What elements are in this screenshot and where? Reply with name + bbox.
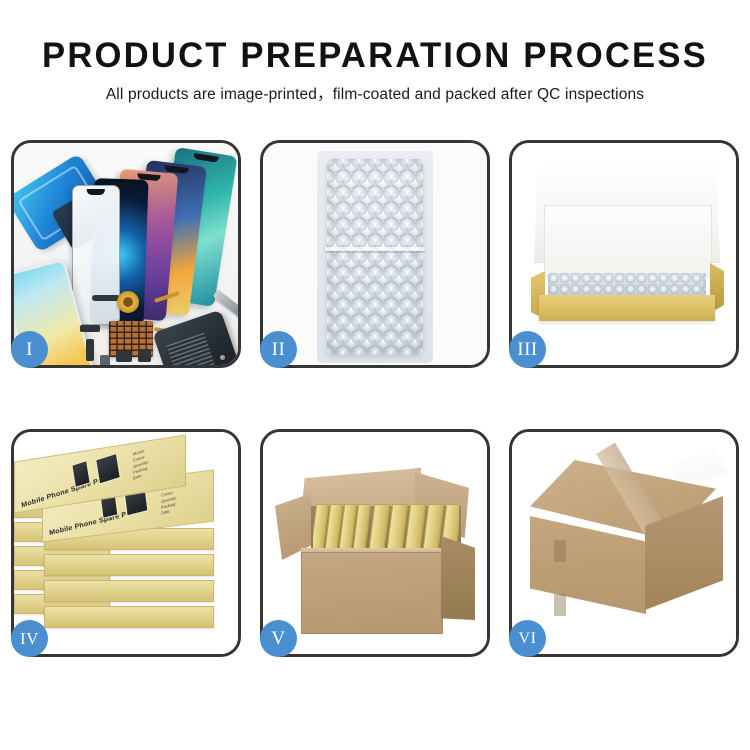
camera-module-graphic [116, 351, 132, 362]
box-spec-text: Date: [133, 474, 143, 481]
step-panel-6: VI [509, 429, 739, 657]
sim-tray-graphic [100, 355, 110, 365]
bubble-wrap-graphic [327, 159, 423, 355]
step-badge-1: I [11, 331, 48, 368]
step-badge-5: V [260, 620, 297, 657]
box-edge [44, 606, 214, 628]
carton-front-panel [530, 516, 646, 614]
carton-flap-seam [554, 540, 566, 562]
speaker-coil-graphic [117, 291, 139, 313]
step-badge-2: II [260, 331, 297, 368]
notch-icon [193, 153, 218, 163]
connector-graphic [86, 339, 94, 361]
screen-thumbnail [95, 453, 121, 485]
box-front-panel-graphic [539, 295, 715, 321]
box-edge [44, 554, 214, 576]
carton-flap-seam [554, 594, 566, 616]
step-image-carton-filling [263, 432, 487, 654]
step-panel-5: V [260, 429, 490, 657]
carton-front-panel [301, 552, 443, 634]
carton-side-panel [441, 536, 475, 620]
header: PRODUCT PREPARATION PROCESS All products… [0, 0, 750, 106]
step-image-bubble-wrap [263, 143, 487, 365]
steps-grid: I II III [11, 140, 739, 685]
glass-protector-graphic [72, 185, 120, 325]
box-edge [44, 580, 214, 602]
vibrator-graphic [138, 349, 151, 362]
product-preparation-infographic: PRODUCT PREPARATION PROCESS All products… [0, 0, 750, 750]
connector-graphic [80, 325, 100, 332]
box-stack-graphic: Mobile Phone Spare Parts Model: Colour: … [14, 432, 238, 654]
step-panel-1: I [11, 140, 241, 368]
step-panel-4: Mobile Phone Spare Parts Model: Colour: … [11, 429, 241, 657]
wrap-seam-graphic [325, 247, 425, 251]
step-image-inner-box [512, 143, 736, 365]
step-badge-3: III [509, 331, 546, 368]
step-image-carton-sealed [512, 432, 736, 654]
screw-graphic [228, 363, 233, 365]
notch-icon [87, 189, 105, 195]
flex-cable-graphic [92, 295, 120, 301]
step-badge-4: IV [11, 620, 48, 657]
step-panel-3: III [509, 140, 739, 368]
page-subtitle: All products are image-printed，film-coat… [0, 84, 750, 106]
step-panel-2: II [260, 140, 490, 368]
screw-graphic [220, 355, 225, 360]
step-image-phones-and-parts [14, 143, 238, 365]
step-badge-6: VI [509, 620, 546, 657]
page-title: PRODUCT PREPARATION PROCESS [4, 34, 747, 78]
box-spec-text: Date: [161, 509, 171, 516]
screen-thumbnail [71, 460, 91, 488]
box-liner-graphic [544, 205, 712, 277]
phone-backplate-graphic [152, 310, 238, 365]
step-image-stacked-boxes: Mobile Phone Spare Parts Model: Colour: … [14, 432, 238, 654]
